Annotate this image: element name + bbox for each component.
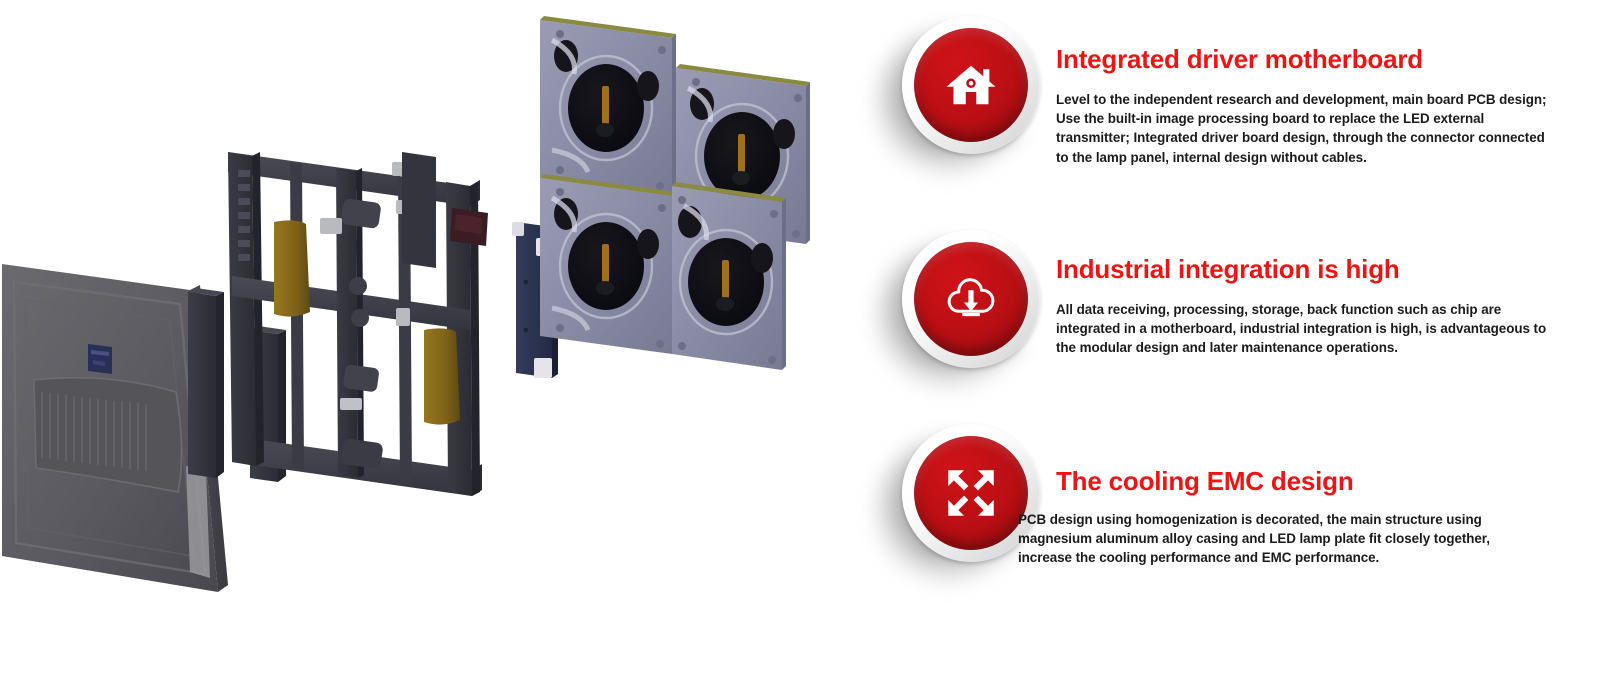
- feature-body: Level to the independent research and de…: [1056, 90, 1556, 167]
- cloud-download-icon: [943, 271, 999, 327]
- badge-disc: [914, 436, 1028, 550]
- part-led-lamp-panel: [672, 182, 786, 370]
- feature-text: Industrial integration is high All data …: [1056, 252, 1576, 358]
- feature-heading: Industrial integration is high: [1056, 252, 1576, 286]
- part-side-spacer-bar-left: [188, 288, 224, 478]
- feature-text: Integrated driver motherboard Level to t…: [1056, 42, 1576, 167]
- feature-text: The cooling EMC design PCB design using …: [1056, 464, 1576, 568]
- home-icon: [943, 57, 999, 113]
- feature-badge[interactable]: [896, 228, 1046, 378]
- product-exploded-render: [0, 0, 860, 689]
- feature-body: All data receiving, processing, storage,…: [1056, 300, 1556, 358]
- cover-label: [88, 344, 112, 374]
- slide-canvas: Integrated driver motherboard Level to t…: [0, 0, 1600, 689]
- badge-disc: [914, 28, 1028, 142]
- feature-heading: The cooling EMC design: [1056, 464, 1576, 498]
- part-led-lamp-panel: [540, 174, 676, 354]
- feature-list: Integrated driver motherboard Level to t…: [860, 0, 1600, 689]
- part-led-lamp-panel: [540, 16, 676, 196]
- part-structural-frame-chassis: [228, 152, 488, 496]
- feature-heading: Integrated driver motherboard: [1056, 42, 1576, 76]
- feature-body: PCB design using homogenization is decor…: [1018, 510, 1538, 568]
- badge-disc: [914, 242, 1028, 356]
- expand-arrows-icon: [943, 465, 999, 521]
- feature-badge[interactable]: [896, 14, 1046, 164]
- amber-capacitor-module: [424, 328, 460, 424]
- amber-capacitor-module: [274, 220, 310, 316]
